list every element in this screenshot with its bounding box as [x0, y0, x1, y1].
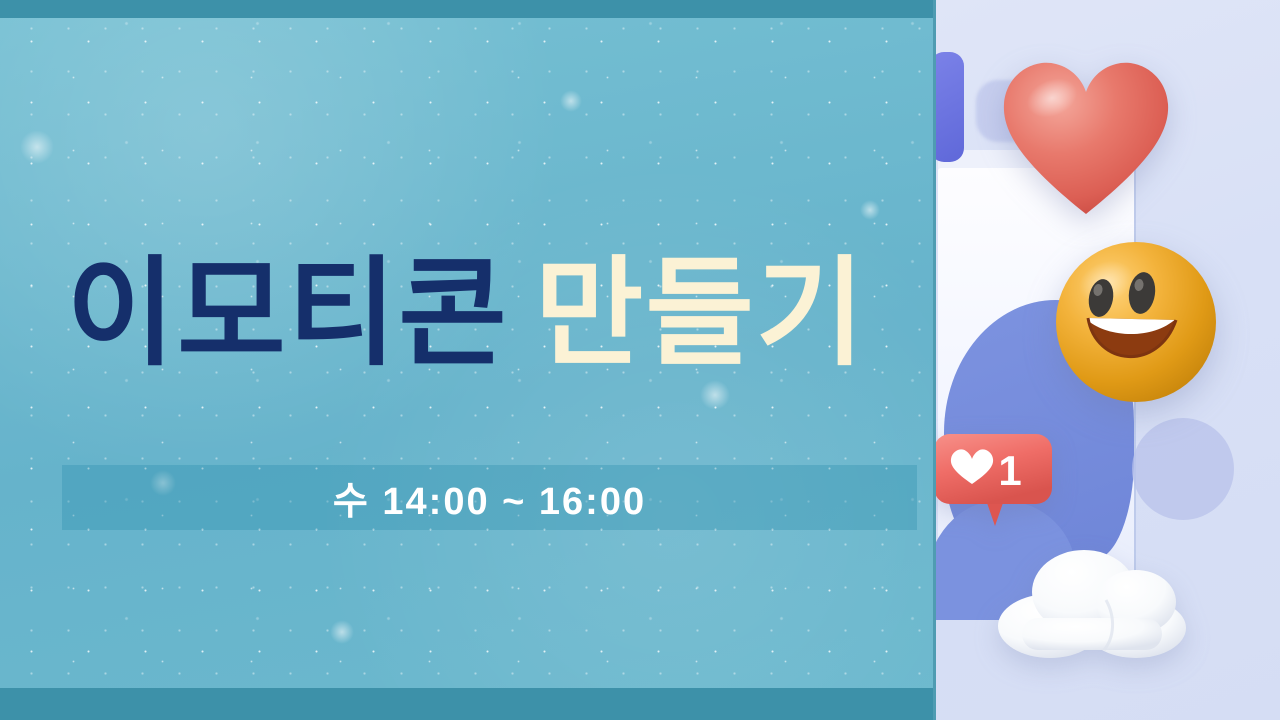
- schedule-text: 수 14:00 ~ 16:00: [333, 470, 646, 525]
- slide-canvas: 이모티콘만들기 수 14:00 ~ 16:00: [0, 0, 1280, 720]
- title-segment-secondary: 만들기: [535, 248, 867, 380]
- like-notification-badge: 1: [934, 430, 1056, 536]
- speckle-glow: [560, 90, 582, 112]
- title-panel: 이모티콘만들기 수 14:00 ~ 16:00: [0, 0, 933, 720]
- lavender-circle-large: [1132, 418, 1234, 520]
- speckle-glow: [860, 200, 880, 220]
- bottom-accent-bar: [0, 688, 933, 720]
- illustration-panel: 1: [933, 0, 1280, 720]
- blue-tab-shape: [933, 52, 964, 162]
- like-count: 1: [998, 447, 1021, 494]
- heart-3d-icon: [1000, 54, 1172, 220]
- page-title: 이모티콘만들기: [0, 255, 933, 373]
- cloud-3d-icon: [988, 540, 1198, 668]
- speckle-glow: [20, 130, 54, 164]
- speckle-glow: [330, 620, 354, 644]
- title-segment-primary: 이모티콘: [67, 248, 509, 380]
- smiley-face-3d-icon: [1054, 240, 1218, 404]
- speckle-glow: [700, 380, 730, 410]
- top-accent-bar: [0, 0, 933, 18]
- schedule-banner: 수 14:00 ~ 16:00: [62, 465, 917, 530]
